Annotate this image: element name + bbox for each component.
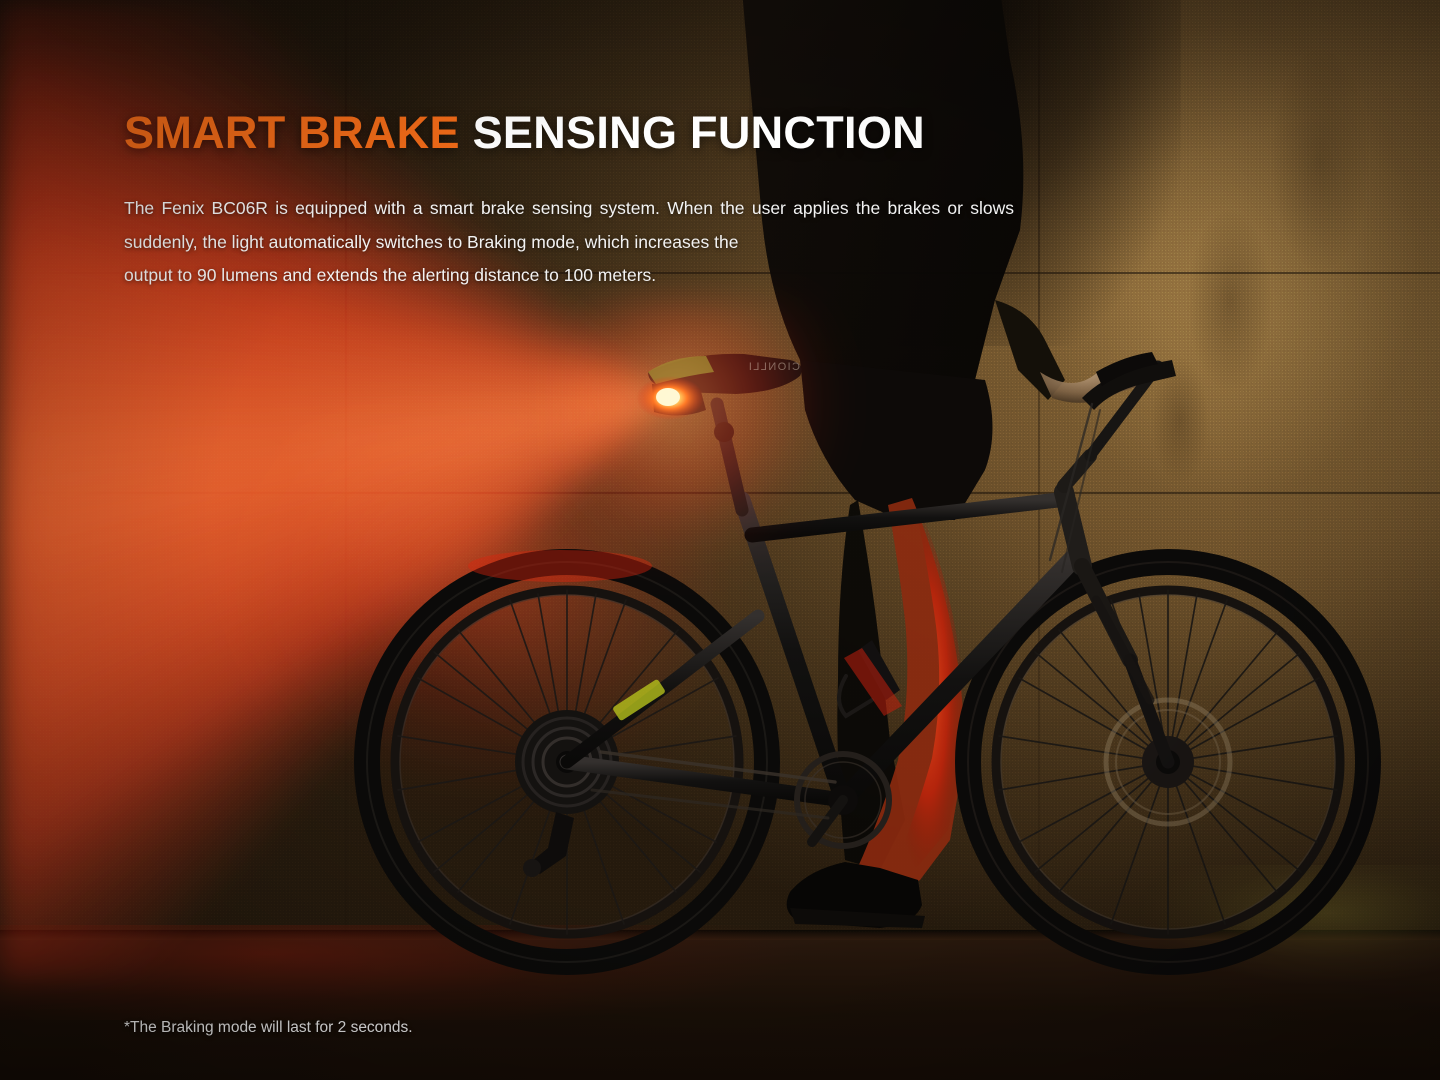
ground-yellow-light-patch (1123, 865, 1440, 985)
body-line-1: The Fenix BC06R is equipped with a smart… (124, 198, 880, 218)
headline-highlight: SMART BRAKE (124, 107, 460, 158)
product-feature-banner: CIONLLI SMART BRAKE SENSING FUNCTION The… (0, 0, 1440, 1080)
page-title: SMART BRAKE SENSING FUNCTION (124, 110, 925, 155)
headline-rest: SENSING FUNCTION (460, 107, 925, 158)
footnote-text: *The Braking mode will last for 2 second… (124, 1018, 413, 1038)
feature-description: The Fenix BC06R is equipped with a smart… (124, 192, 1014, 293)
body-line-3: output to 90 lumens and extends the aler… (124, 259, 1014, 293)
ground-red-reflection (0, 925, 893, 1020)
